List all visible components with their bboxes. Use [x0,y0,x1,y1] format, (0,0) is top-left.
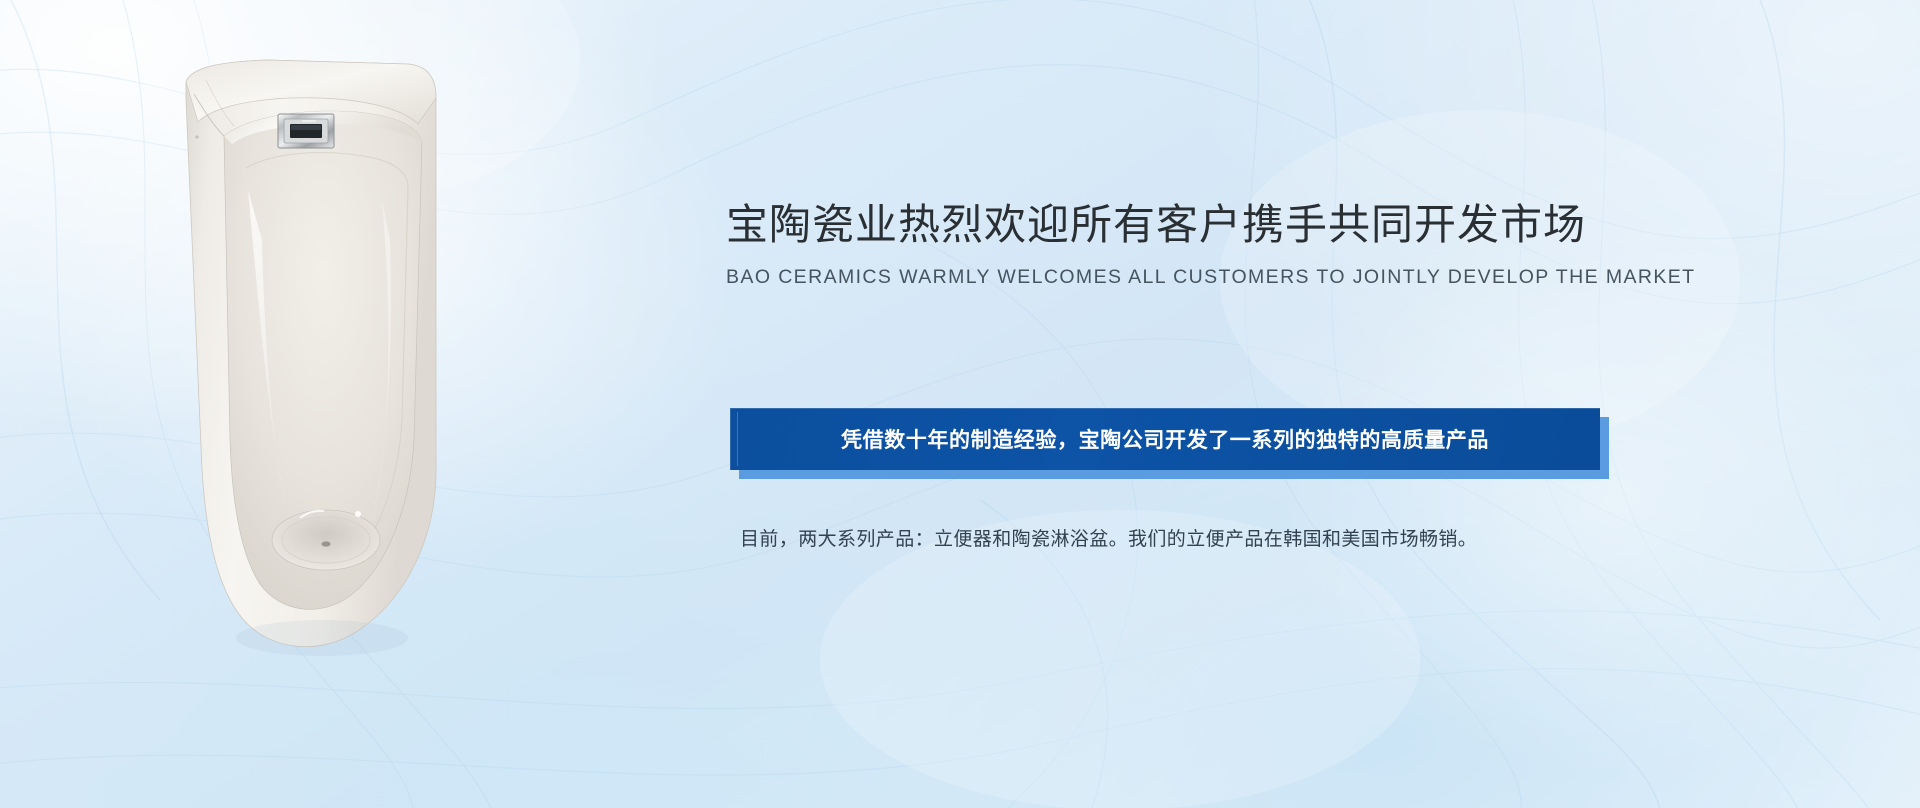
product-image-urinal [150,40,480,660]
callout-banner: 凭借数十年的制造经验，宝陶公司开发了一系列的独特的高质量产品 [730,408,1600,470]
headline-block: 宝陶瓷业热烈欢迎所有客户携手共同开发市场 BAO CERAMICS WARMLY… [726,200,1626,289]
urinal-drain-hole [322,541,331,546]
urinal-specular-dot [355,511,361,517]
urinal-fixing-point [195,135,198,138]
callout-banner-text: 凭借数十年的制造经验，宝陶公司开发了一系列的独特的高质量产品 [841,424,1489,454]
page-subtitle: BAO CERAMICS WARMLY WELCOMES ALL CUSTOME… [726,266,1626,289]
infrared-sensor-plate [278,114,334,148]
callout-banner-body: 凭借数十年的制造经验，宝陶公司开发了一系列的独特的高质量产品 [730,408,1600,470]
callout-banner-inner-rule [737,412,738,466]
urinal-drain-basin [272,510,380,570]
product-tagline: 目前，两大系列产品：立便器和陶瓷淋浴盆。我们的立便产品在韩国和美国市场畅销。 [740,524,1477,551]
banner-stage: 宝陶瓷业热烈欢迎所有客户携手共同开发市场 BAO CERAMICS WARMLY… [0,0,1920,808]
urinal-ground-shadow [236,620,408,656]
page-title: 宝陶瓷业热烈欢迎所有客户携手共同开发市场 [726,200,1626,250]
